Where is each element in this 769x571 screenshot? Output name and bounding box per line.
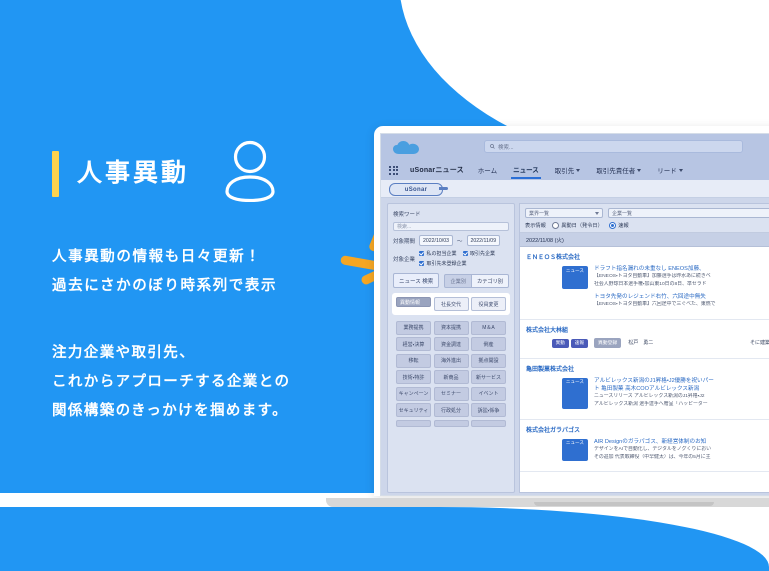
article-tags: ニュース [526, 265, 588, 289]
company-select-value: 企業一覧 [612, 210, 632, 217]
article-title-link[interactable]: アルビレックス新潟のJ1昇格・J2優勝を祝いパー [594, 377, 769, 385]
promo-copy: 人事異動 人事異動の情報も日々更新！ 過去にさかのぼり時系列で表示 注力企業や取… [52, 140, 382, 426]
category-chip-empty[interactable] [396, 420, 431, 427]
category-chip[interactable]: 倒産 [471, 337, 506, 351]
category-president-change[interactable]: 社長交代 [434, 297, 469, 311]
search-actions-row: ニュース 検索 企業別 カテゴリ別 [393, 273, 509, 288]
radio-breaking-label: 速報 [618, 222, 628, 229]
article-text: アルビレックス新潟のJ1昇格・J2優勝を祝いパー ト 亀田製菓 高木COOアルビ… [594, 377, 769, 409]
checkbox-icon [419, 251, 424, 256]
news-date-header: 2022/11/08 (火) [520, 233, 769, 247]
news-company-block: ＥＮＥＯＳ株式会社 ニュース ドラフト指名漏れの未重なし ENEOS加藤、 【E… [520, 247, 769, 320]
article-summary: 【ENEOS・トヨタ自動車】六回途中で三ぐべた、東燃で [594, 301, 769, 309]
category-chip[interactable]: 資金調達 [434, 337, 469, 351]
tag-breaking: 速報 [571, 339, 588, 348]
display-mode-row: 表示情報 異動日（発令日） 速報 [525, 222, 769, 229]
search-icon [490, 144, 495, 149]
radio-announcement-date-label: 異動日（発令日） [561, 222, 603, 229]
checkbox-my-accounts[interactable]: 私の担当企業 [419, 250, 457, 257]
news-list: ＥＮＥＯＳ株式会社 ニュース ドラフト指名漏れの未重なし ENEOS加藤、 【E… [520, 247, 769, 492]
nav-item-home-label: ホーム [478, 165, 497, 175]
article-title-link-cont[interactable]: ト 亀田製菓 高木COOアルビレックス新潟 [594, 385, 769, 393]
app-nav: uSonarニュース ホーム ニュース 取引先 取引先責任者 [389, 160, 769, 180]
category-executive-change[interactable]: 役員変更 [471, 297, 506, 311]
category-grid: 業務提携 資本提携 M＆A 経営・決算 資金調達 倒産 移転 海外進出 拠点開設… [393, 321, 509, 427]
article-summary: 社会人野球日本選手権・加山東10日の8日、準セラド [594, 281, 769, 289]
tag-movement: 異動 [552, 339, 569, 348]
promo-lead: 人事異動の情報も日々更新！ 過去にさかのぼり時系列で表示 [52, 243, 382, 301]
article-summary: アルビレックス新潟 選手達手へ贈呈「ハッピーター [594, 401, 769, 409]
segment-by-category[interactable]: カテゴリ別 [472, 274, 509, 288]
chevron-down-icon [595, 212, 599, 215]
radio-announcement-date[interactable]: 異動日（発令日） [552, 222, 603, 229]
company-name-link[interactable]: 株式会社大林組 [526, 325, 769, 334]
news-article: ニュース アルビレックス新潟のJ1昇格・J2優勝を祝いパー ト 亀田製菓 高木C… [526, 377, 769, 409]
period-to-input[interactable]: 2022/11/09 [467, 235, 501, 246]
promo-slide: 人事異動 人事異動の情報も日々更新！ 過去にさかのぼり時系列で表示 注力企業や取… [0, 0, 769, 571]
category-chip[interactable]: 経営・決算 [396, 337, 431, 351]
checkbox-icon [419, 261, 424, 266]
promo-body-line-1: 注力企業や取引先、 [52, 339, 382, 368]
news-article: ニュース AIR Designのガラパゴス、新経営体制のお知 デザインをAIで自… [526, 438, 769, 462]
laptop-base-lip [534, 502, 714, 506]
article-summary: ニュースリリース アルビレックス新潟のJ1昇格・J2 [594, 393, 769, 401]
period-from-input[interactable]: 2022/10/03 [419, 235, 453, 246]
category-highlight-group: 異動情報 社長交代 役員変更 [393, 294, 509, 314]
nav-item-home[interactable]: ホーム [476, 162, 499, 178]
checkbox-icon [463, 251, 468, 256]
keyword-label: 検索ワード [393, 210, 509, 218]
app-name: uSonarニュース [410, 165, 464, 175]
category-chip[interactable]: 移転 [396, 354, 431, 368]
article-title-link[interactable]: AIR Designのガラパゴス、新経営体制のお知 [594, 438, 769, 446]
nav-item-accounts[interactable]: 取引先 [553, 162, 583, 178]
radio-breaking[interactable]: 速報 [609, 222, 629, 229]
article-text: ドラフト指名漏れの未重なし ENEOS加藤、 【ENEOS・トヨタ自動車】加藤選… [594, 265, 769, 289]
article-text: トヨタ先発のレジェンド右竹、六回途中無失 【ENEOS・トヨタ自動車】六回途中で… [594, 293, 769, 309]
checkbox-customer-accounts[interactable]: 取引先企業 [463, 250, 496, 257]
category-chip[interactable]: 拠点開設 [471, 354, 506, 368]
checkbox-unregistered-accounts[interactable]: 取引先未登録企業 [419, 260, 467, 267]
global-search-input[interactable]: 検索... [484, 140, 743, 153]
category-chip[interactable]: 業務提携 [396, 321, 431, 335]
chevron-down-icon [637, 169, 641, 172]
company-name-link[interactable]: 株式会社ガラパゴス [526, 425, 769, 434]
article-summary: その追加 代表取締役（中早健太）は、今年の5月に主 [594, 454, 769, 462]
movement-detail: そに建築不動産 [750, 339, 769, 346]
global-search-placeholder: 検索... [498, 143, 514, 151]
chevron-down-icon [576, 169, 580, 172]
nav-item-leads[interactable]: リード [655, 162, 685, 178]
radio-icon [552, 222, 559, 229]
company-label: 対象企業 [393, 255, 415, 263]
category-chip[interactable]: M＆A [471, 321, 506, 335]
tag-news: ニュース [562, 266, 588, 289]
app-launcher-icon[interactable] [389, 166, 398, 175]
news-filter-header: 業界一覧 企業一覧 表示情報 [520, 204, 769, 233]
nav-item-leads-label: リード [657, 165, 677, 175]
article-title-link[interactable]: ドラフト指名漏れの未重なし ENEOS加藤、 [594, 265, 769, 273]
filter-panel: 検索ワード 検索... 対象期間 2022/10/03 ～ 2022/11/09… [387, 203, 515, 493]
company-select[interactable]: 企業一覧 [608, 208, 769, 218]
period-separator: ～ [457, 237, 463, 245]
nav-item-contacts-label: 取引先責任者 [596, 165, 635, 175]
app-workspace: 検索ワード 検索... 対象期間 2022/10/03 ～ 2022/11/09… [381, 198, 769, 496]
company-checkbox-group: 私の担当企業 取引先企業 取引先未登録企業 [419, 250, 509, 267]
article-summary: 【ENEOS・トヨタ自動車】加藤選手は昨水あに続きベ [594, 273, 769, 281]
radio-icon-selected [609, 222, 616, 229]
promo-title-row: 人事異動 [52, 140, 382, 207]
cloud-logo-icon [393, 141, 419, 160]
brand-bar: uSonar [381, 180, 769, 198]
promo-body-line-2: これからアプローチする企業との [52, 368, 382, 397]
category-chip[interactable]: 技術・特許 [396, 370, 431, 384]
category-chip[interactable]: 新商品 [434, 370, 469, 384]
accent-bar [52, 151, 59, 197]
checkbox-customer-accounts-label: 取引先企業 [470, 250, 495, 257]
category-chip[interactable]: セキュリティ [396, 403, 431, 417]
view-mode-segment: 企業別 カテゴリ別 [444, 274, 509, 288]
news-article: トヨタ先発のレジェンド右竹、六回途中無失 【ENEOS・トヨタ自動車】六回途中で… [526, 293, 769, 309]
usonar-logo-text: uSonar [405, 187, 427, 193]
category-chip[interactable]: 海外進出 [434, 354, 469, 368]
laptop-lid: 検索... uSonarニュース ホーム ニュース [374, 126, 769, 496]
news-article: ニュース ドラフト指名漏れの未重なし ENEOS加藤、 【ENEOS・トヨタ自動… [526, 265, 769, 289]
category-chip[interactable]: 訴訟・係争 [471, 403, 506, 417]
promo-lead-line-1: 人事異動の情報も日々更新！ [52, 243, 382, 272]
category-primary-row: 異動情報 社長交代 役員変更 [396, 297, 506, 311]
news-search-button[interactable]: ニュース 検索 [393, 273, 439, 288]
category-chip[interactable]: イベント [471, 387, 506, 401]
category-personnel-change[interactable]: 異動情報 [396, 297, 431, 307]
article-tags: 異動 速報 [526, 338, 588, 348]
tag-news: ニュース [562, 439, 588, 462]
article-summary: デザインをAIで自動化し、デジタルをノグくりにおい [594, 446, 769, 454]
category-chip[interactable]: 資本提携 [434, 321, 469, 335]
checkbox-unregistered-accounts-label: 取引先未登録企業 [427, 260, 467, 267]
laptop-mockup: 検索... uSonarニュース ホーム ニュース [374, 126, 769, 511]
article-title-link[interactable]: トヨタ先発のレジェンド右竹、六回途中無失 [594, 293, 769, 301]
news-company-block: 亀田製菓株式会社 ニュース アルビレックス新潟のJ1昇格・J2優勝を祝いパー ト… [520, 359, 769, 420]
industry-select-value: 業界一覧 [529, 210, 549, 217]
period-label: 対象期間 [393, 237, 415, 245]
promo-body-line-3: 関係構築のきっかけを掴めます。 [52, 397, 382, 426]
company-name-link[interactable]: ＥＮＥＯＳ株式会社 [526, 252, 769, 261]
movement-person: 松戸 勇二 [628, 339, 653, 346]
tag-news: ニュース [562, 378, 588, 409]
app-header: 検索... uSonarニュース ホーム ニュース [381, 134, 769, 180]
segment-by-company[interactable]: 企業別 [444, 274, 472, 288]
news-select-row: 業界一覧 企業一覧 [525, 208, 769, 218]
checkbox-my-accounts-label: 私の担当企業 [427, 250, 457, 257]
news-panel: 業界一覧 企業一覧 表示情報 [519, 203, 769, 493]
category-chip[interactable]: キャンペーン [396, 387, 431, 401]
category-chip-empty[interactable] [434, 420, 469, 427]
article-tags: ニュース [526, 377, 588, 409]
promo-lead-line-2: 過去にさかのぼり時系列で表示 [52, 272, 382, 301]
company-scope-row: 対象企業 私の担当企業 取引先企業 [393, 250, 509, 267]
movement-text: 異動登録 松戸 勇二 そに建築不動産 [594, 338, 769, 348]
usonar-logo-tail [439, 187, 448, 190]
article-tags: ニュース [526, 438, 588, 462]
period-row: 対象期間 2022/10/03 ～ 2022/11/09 [393, 235, 509, 246]
news-company-block: 株式会社ガラパゴス ニュース AIR Designのガラパゴス、新経営体制のお知… [520, 420, 769, 473]
nav-item-news[interactable]: ニュース [511, 161, 541, 179]
chevron-down-icon [679, 169, 683, 172]
person-icon [221, 140, 279, 207]
keyword-placeholder: 検索... [397, 223, 411, 230]
news-company-block: 株式会社大林組 異動 速報 異動登録 松戸 勇二 そ [520, 320, 769, 359]
article-tags [526, 293, 588, 309]
category-chip[interactable]: 新サービス [471, 370, 506, 384]
article-text: AIR Designのガラパゴス、新経営体制のお知 デザインをAIで自動化し、デ… [594, 438, 769, 462]
company-name-link[interactable]: 亀田製菓株式会社 [526, 364, 769, 373]
category-chip[interactable]: セミナー [434, 387, 469, 401]
app-screen: 検索... uSonarニュース ホーム ニュース [380, 133, 769, 496]
display-label: 表示情報 [525, 222, 546, 229]
promo-body: 注力企業や取引先、 これからアプローチする企業との 関係構築のきっかけを掴めます… [52, 339, 382, 426]
personnel-movement-row: 異動 速報 異動登録 松戸 勇二 そに建築不動産 [526, 338, 769, 348]
nav-item-accounts-label: 取引先 [555, 165, 575, 175]
nav-item-news-label: ニュース [513, 164, 539, 174]
movement-chip: 異動登録 [594, 338, 621, 348]
category-chip[interactable]: 行政処分 [434, 403, 469, 417]
keyword-input[interactable]: 検索... [393, 222, 509, 231]
industry-select[interactable]: 業界一覧 [525, 208, 603, 218]
page-title: 人事異動 [77, 161, 189, 186]
nav-item-contacts[interactable]: 取引先責任者 [594, 162, 643, 178]
category-chip-empty[interactable] [471, 420, 506, 427]
usonar-logo: uSonar [389, 183, 443, 196]
